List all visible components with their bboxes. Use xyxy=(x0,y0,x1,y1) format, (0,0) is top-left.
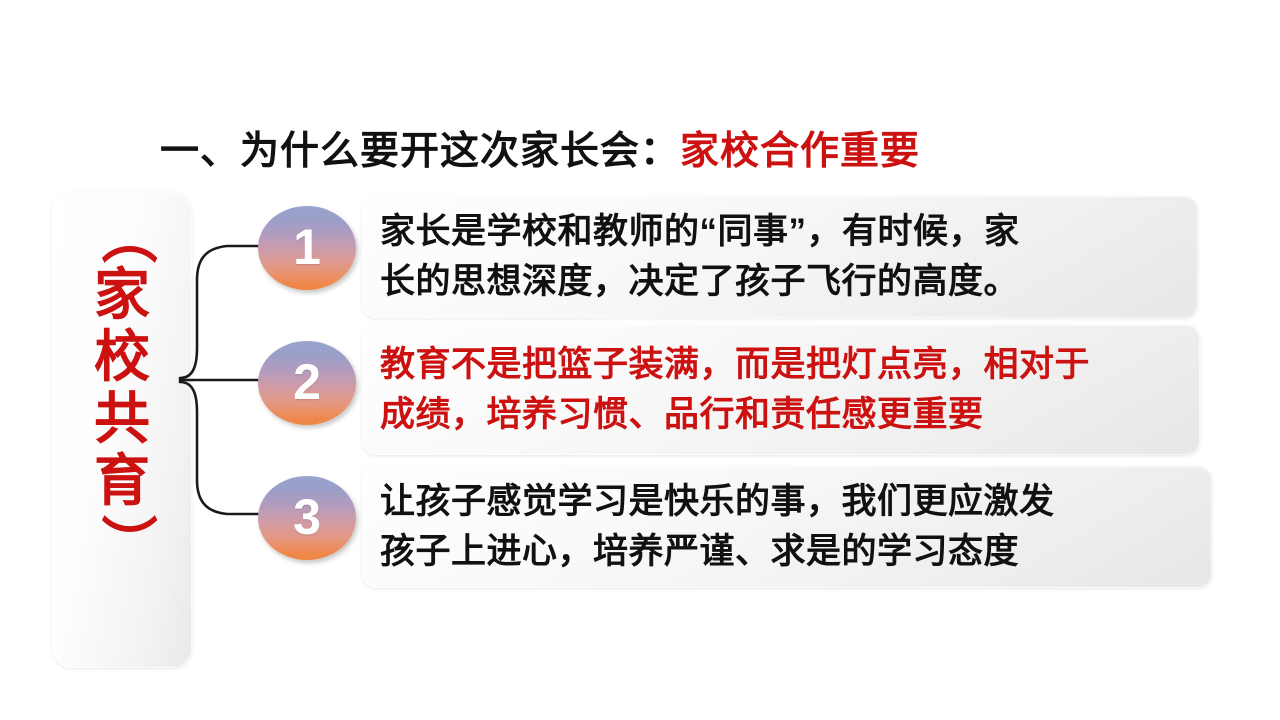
left-panel-char-2: 校 xyxy=(94,328,150,390)
left-panel-paren-open: （ xyxy=(100,208,144,264)
left-panel-char-4: 育 xyxy=(94,452,150,514)
content-box-2: 教育不是把篮子装满，而是把灯点亮，相对于 成绩，培养习惯、品行和责任感更重要 xyxy=(362,325,1200,455)
left-panel-char-3: 共 xyxy=(94,390,150,452)
item-number-2: 2 xyxy=(293,357,321,407)
page-title-accent: 家校合作重要 xyxy=(680,130,920,173)
content-box-3: 让孩子感觉学习是快乐的事，我们更应激发 孩子上进心，培养严谨、求是的学习态度 xyxy=(362,466,1212,588)
page-title-prefix: 一、为什么要开这次家长会： xyxy=(160,130,680,173)
item-number-badge-2: 2 xyxy=(258,341,356,425)
left-panel-char-1: 家 xyxy=(94,266,150,328)
item-number-badge-1: 1 xyxy=(258,206,356,290)
content-box-1-line-1: 家长是学校和教师的“同事”，有时候，家 xyxy=(380,207,1184,257)
slide-canvas: 一、为什么要开这次家长会：家校合作重要 （ 家 校 共 育 ） 1 2 3 家长… xyxy=(0,0,1280,720)
page-title: 一、为什么要开这次家长会：家校合作重要 xyxy=(160,124,1160,180)
content-box-1-line-2: 长的思想深度，决定了孩子飞行的高度。 xyxy=(380,257,1184,307)
content-box-2-line-1: 教育不是把篮子装满，而是把灯点亮，相对于 xyxy=(380,340,1186,390)
left-panel-paren-close: ） xyxy=(100,514,144,570)
content-box-3-line-2: 孩子上进心，培养严谨、求是的学习态度 xyxy=(380,527,1198,577)
content-box-3-line-1: 让孩子感觉学习是快乐的事，我们更应激发 xyxy=(380,477,1198,527)
left-panel-label: （ 家 校 共 育 ） xyxy=(52,214,192,644)
item-number-badge-3: 3 xyxy=(258,476,356,560)
left-vertical-panel: （ 家 校 共 育 ） xyxy=(52,192,192,668)
content-box-1: 家长是学校和教师的“同事”，有时候，家 长的思想深度，决定了孩子飞行的高度。 xyxy=(362,196,1198,318)
content-box-2-line-2: 成绩，培养习惯、品行和责任感更重要 xyxy=(380,390,1186,440)
item-number-1: 1 xyxy=(293,222,321,272)
item-number-3: 3 xyxy=(293,492,321,542)
